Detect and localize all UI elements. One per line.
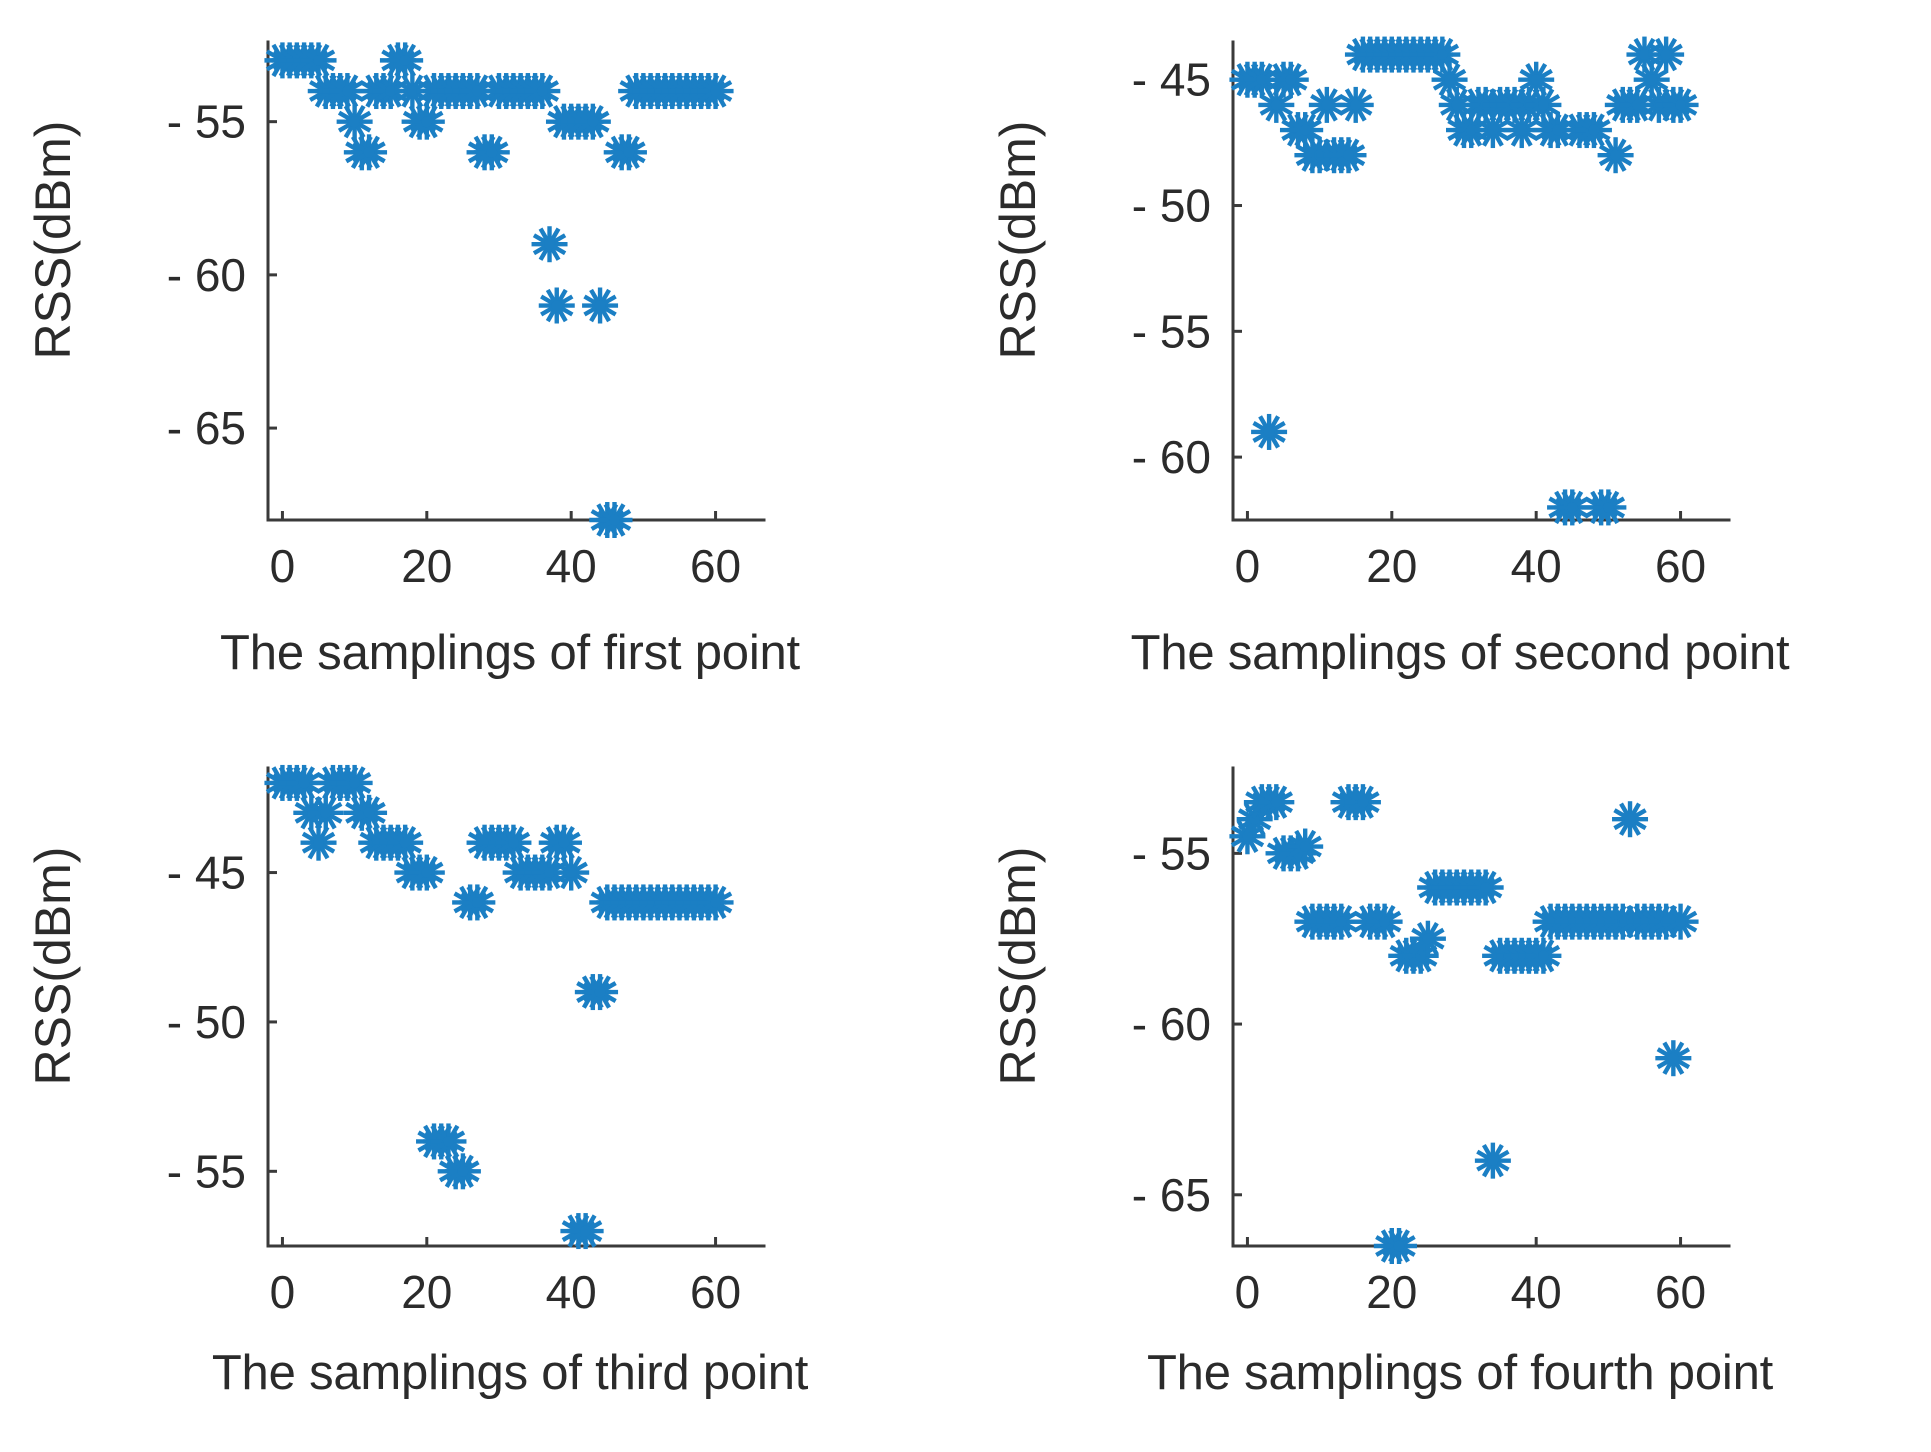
y-axis-label: RSS(dBm) [990,847,1046,1086]
caption-first-point: The samplings of first point [110,625,910,681]
data-series [264,42,733,538]
caption-third-point: The samplings of third point [110,1345,910,1401]
subplot-fourth-point: - 55- 60- 650204060RSS(dBm) [965,726,1765,1326]
x-tick-label: 60 [1655,1266,1706,1318]
figure-canvas: - 55- 60- 650204060RSS(dBm) The sampling… [0,0,1931,1452]
subplot-third-point: - 45- 50- 550204060RSS(dBm) [0,726,800,1326]
y-axis-label: RSS(dBm) [990,121,1046,360]
y-tick-label: - 60 [1132,998,1211,1050]
data-point-marker [532,226,568,262]
y-tick-label: - 50 [1132,180,1211,232]
x-tick-label: 0 [1235,540,1261,592]
data-series [1229,784,1698,1264]
x-tick-label: 40 [1511,540,1562,592]
y-axis-label: RSS(dBm) [25,847,81,1086]
data-point-marker [1251,414,1287,450]
y-tick-label: - 55 [1132,827,1211,879]
subplot-second-point: - 45- 50- 55- 600204060RSS(dBm) [965,0,1765,600]
data-point-marker [337,104,373,140]
y-tick-label: - 55 [167,96,246,148]
y-tick-label: - 50 [167,996,246,1048]
x-tick-label: 20 [1366,1266,1417,1318]
data-series [1229,37,1698,526]
x-tick-label: 60 [1655,540,1706,592]
y-axis-label: RSS(dBm) [25,121,81,360]
data-point-marker [1655,1040,1691,1076]
x-tick-label: 60 [690,540,741,592]
x-tick-label: 20 [401,540,452,592]
data-series [264,765,733,1249]
scatter-plot-second-point: - 45- 50- 55- 600204060RSS(dBm) [965,0,1765,600]
scatter-plot-first-point: - 55- 60- 650204060RSS(dBm) [0,0,800,600]
y-tick-label: - 60 [167,249,246,301]
data-point-marker [301,825,337,861]
x-tick-label: 0 [1235,1266,1261,1318]
x-tick-label: 0 [270,1266,296,1318]
scatter-plot-third-point: - 45- 50- 550204060RSS(dBm) [0,726,800,1326]
x-tick-label: 40 [1511,1266,1562,1318]
data-point-marker [1612,801,1648,837]
x-tick-label: 20 [401,1266,452,1318]
x-tick-label: 0 [270,540,296,592]
caption-fourth-point: The samplings of fourth point [1030,1345,1890,1401]
y-tick-label: - 55 [1132,305,1211,357]
data-point-marker [1338,87,1374,123]
y-tick-label: - 45 [1132,54,1211,106]
x-tick-label: 40 [546,540,597,592]
y-tick-label: - 60 [1132,431,1211,483]
scatter-plot-fourth-point: - 55- 60- 650204060RSS(dBm) [965,726,1765,1326]
y-tick-label: - 45 [167,847,246,899]
caption-second-point: The samplings of second point [1030,625,1890,681]
x-tick-label: 20 [1366,540,1417,592]
data-point-marker [539,288,575,324]
y-tick-label: - 55 [167,1145,246,1197]
y-tick-label: - 65 [1132,1169,1211,1221]
x-tick-label: 40 [546,1266,597,1318]
data-point-marker [1475,1143,1511,1179]
subplot-first-point: - 55- 60- 650204060RSS(dBm) [0,0,800,600]
y-tick-label: - 65 [167,402,246,454]
x-tick-label: 60 [690,1266,741,1318]
data-point-marker [582,288,618,324]
